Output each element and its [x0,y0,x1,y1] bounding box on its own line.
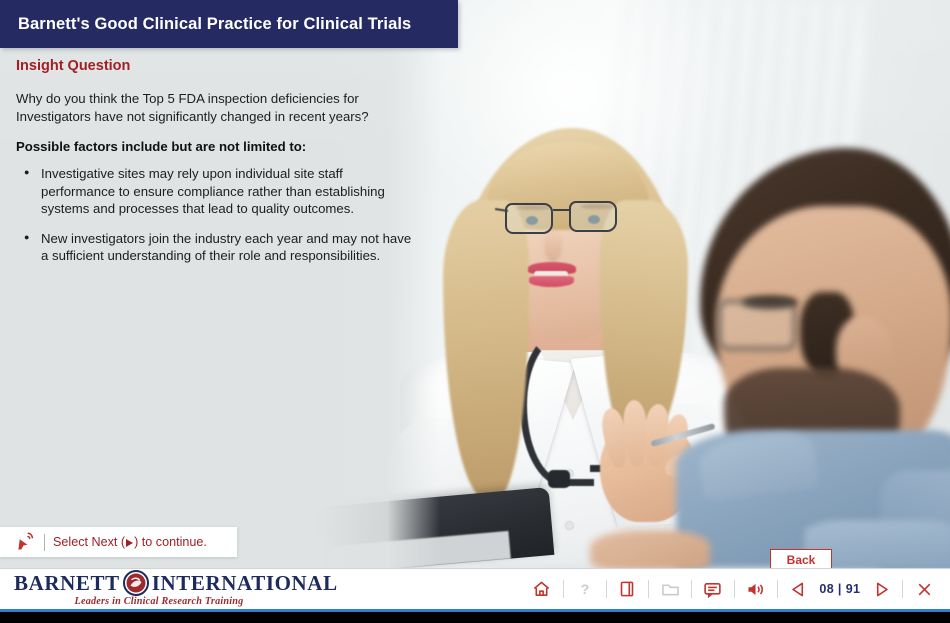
toolbar-divider [691,580,692,598]
course-title-bar: Barnett's Good Clinical Practice for Cli… [0,0,458,48]
back-button-label: Back [787,553,816,567]
list-item: Investigative sites may rely upon indivi… [16,165,416,218]
close-icon[interactable] [910,575,938,603]
home-icon[interactable] [528,575,556,603]
prev-arrow-icon[interactable] [785,575,813,603]
player-chrome-base [0,612,950,623]
book-icon[interactable] [614,575,642,603]
list-item: New investigators join the industry each… [16,230,416,265]
content-column: Insight Question Why do you think the To… [16,58,432,277]
logo-wordmark: BARNETT INTERNATIONAL [14,571,304,595]
logo-tagline: Leaders in Clinical Research Training [14,596,304,607]
instruction-text-after: ) to continue. [134,535,207,549]
toolbar-divider [777,580,778,598]
banner-divider [44,534,45,551]
slide-stage: Barnett's Good Clinical Practice for Cli… [0,0,950,623]
help-icon[interactable]: ? [571,575,599,603]
click-cursor-icon [16,532,38,552]
factors-list: Investigative sites may rely upon indivi… [16,165,432,265]
audio-icon[interactable] [742,575,770,603]
patient-glasses [718,300,796,350]
instruction-text: Select Next () to continue. [53,535,207,549]
barnett-emblem-icon [123,570,149,596]
doctor-glasses-lens [569,201,617,232]
back-button[interactable]: Back [770,549,832,568]
logo-word-left: BARNETT [14,571,120,596]
play-glyph-icon [126,539,133,547]
doctor-nose [544,230,562,262]
page-indicator: 08 | 91 [812,582,867,596]
svg-text:?: ? [580,582,589,598]
comment-icon[interactable] [699,575,727,603]
toolbar-divider [606,580,607,598]
patient-hand [590,530,710,568]
stethoscope-chestpiece [548,470,570,488]
next-arrow-icon[interactable] [867,575,895,603]
doctor-chin [522,292,582,322]
doctor-coat-button [566,522,573,529]
doctor-glasses-bridge [553,209,569,211]
factors-lead-text: Possible factors include but are not lim… [16,138,432,155]
slide-canvas: Barnett's Good Clinical Practice for Cli… [0,0,950,568]
instruction-banner: Select Next () to continue. [0,527,237,557]
toolbar-divider [563,580,564,598]
toolbar-divider [734,580,735,598]
question-text: Why do you think the Top 5 FDA inspectio… [16,90,406,125]
logo-word-right: INTERNATIONAL [152,571,338,596]
player-toolbar: ? [528,568,938,610]
toolbar-divider [648,580,649,598]
page-title: Barnett's Good Clinical Practice for Cli… [18,15,411,34]
toolbar-divider [902,580,903,598]
barnett-logo: BARNETT INTERNATIONAL Leaders in Clinica… [14,571,304,609]
instruction-text-before: Select Next ( [53,535,125,549]
folder-icon[interactable] [656,575,684,603]
doctor-glasses-lens [505,203,553,234]
doctor-lower-lip [529,276,574,287]
insight-question-heading: Insight Question [16,58,432,74]
